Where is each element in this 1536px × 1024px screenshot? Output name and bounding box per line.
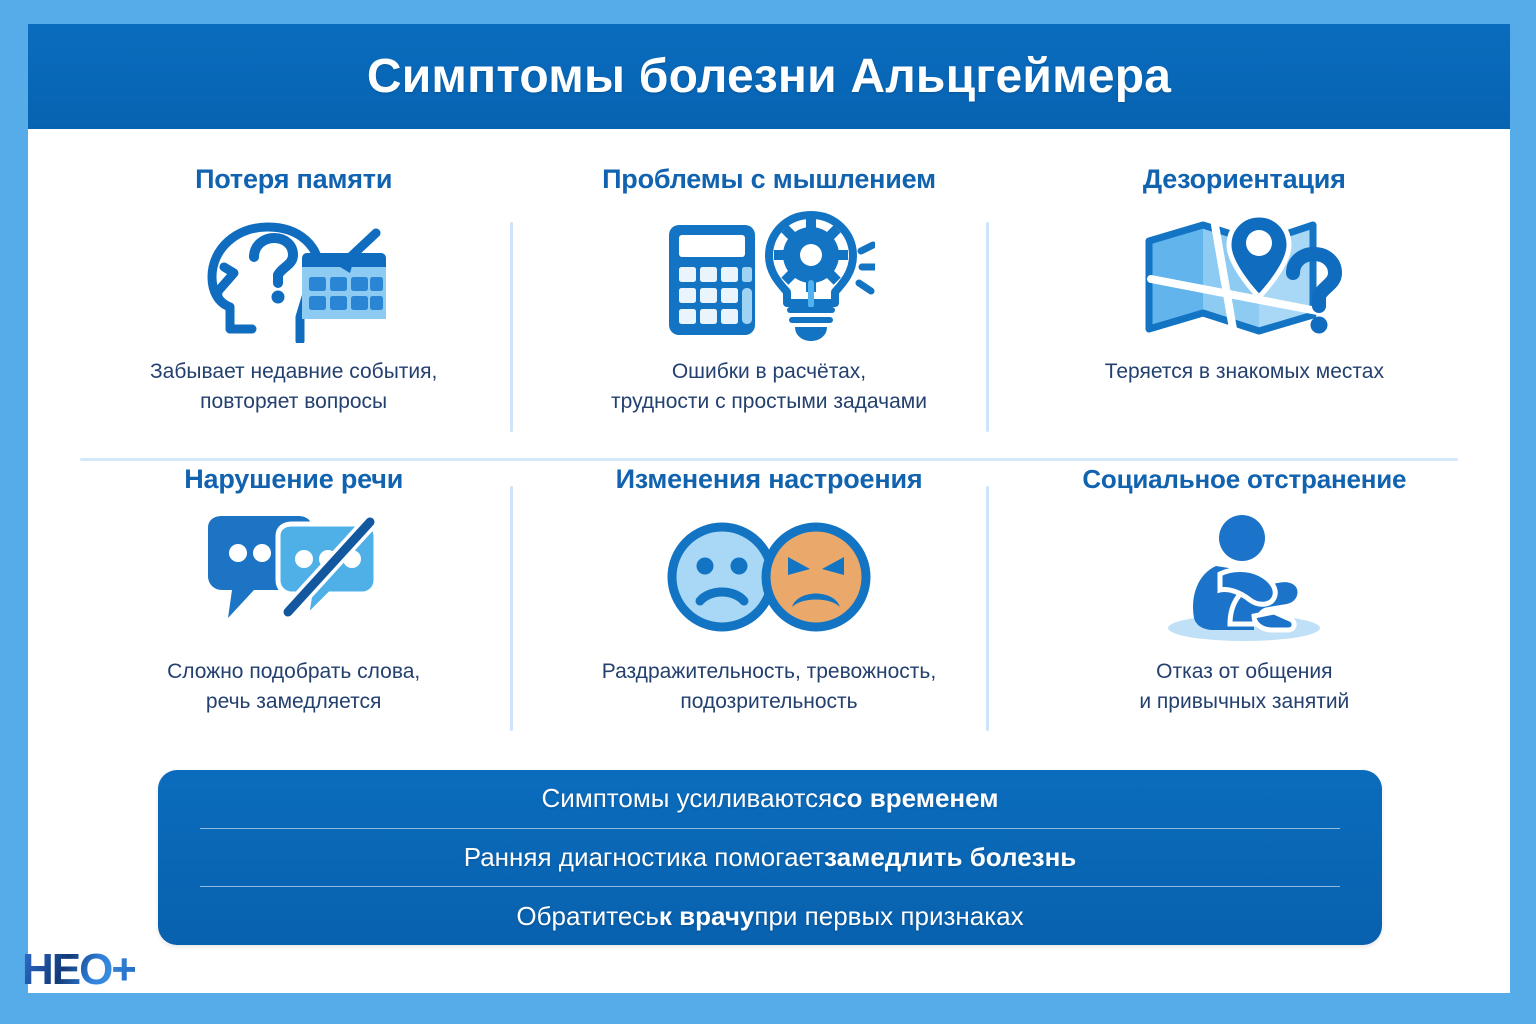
- sad-angry-faces-icon: [664, 507, 874, 647]
- banner-line-2-bold: замедлить болезнь: [824, 842, 1076, 873]
- symptom-card-mood-changes[interactable]: Изменения настроения Р: [531, 450, 1006, 750]
- banner-line-2: Ранняя диагностика помогает замедлить бо…: [158, 829, 1382, 887]
- symptom-title: Социальное отстранение: [1082, 464, 1406, 495]
- symptom-description: Отказ от общенияи привычных занятий: [1139, 657, 1349, 718]
- symptom-title: Изменения настроения: [616, 464, 923, 495]
- symptom-card-disorientation[interactable]: Дезориентация: [1007, 150, 1482, 450]
- symptom-title: Нарушение речи: [184, 464, 403, 495]
- symptom-description: Забывает недавние события,повторяет вопр…: [150, 357, 437, 418]
- header-bar: Симптомы болезни Альцгеймера: [28, 24, 1510, 129]
- symptom-description: Теряется в знакомых местах: [1105, 357, 1384, 387]
- symptom-title: Потеря памяти: [195, 164, 392, 195]
- symptom-row-1: Потеря памяти: [56, 150, 1482, 450]
- banner-line-3: Обратитесь к врачу при первых признаках: [158, 887, 1382, 945]
- symptom-card-memory-loss[interactable]: Потеря памяти: [56, 150, 531, 450]
- banner-line-3-plain-after: при первых признаках: [754, 901, 1023, 932]
- symptom-description: Ошибки в расчётах,трудности с простыми з…: [611, 357, 927, 418]
- symptom-description: Сложно подобрать слова,речь замедляется: [167, 657, 420, 718]
- symptom-card-thinking-problems[interactable]: Проблемы с мышлением: [531, 150, 1006, 450]
- symptom-title: Дезориентация: [1143, 164, 1346, 195]
- symptom-description: Раздражительность, тревожность,подозрите…: [602, 657, 936, 718]
- speech-bubbles-slash-icon: [194, 507, 394, 647]
- banner-line-3-plain-before: Обратитесь: [516, 901, 659, 932]
- symptom-title: Проблемы с мышлением: [602, 164, 936, 195]
- map-pin-question-icon: [1141, 207, 1347, 347]
- symptom-row-2: Нарушение речи: [56, 450, 1482, 750]
- symptom-card-social-withdrawal[interactable]: Социальное отстранение: [1007, 450, 1482, 750]
- page-title: Симптомы болезни Альцгеймера: [367, 49, 1171, 104]
- symptom-card-speech-impairment[interactable]: Нарушение речи: [56, 450, 531, 750]
- symptom-grid: Потеря памяти: [56, 150, 1482, 750]
- poster-root: Симптомы болезни Альцгеймера Потеря памя…: [0, 0, 1536, 1024]
- calculator-lightbulb-gear-icon: [663, 207, 875, 347]
- person-sitting-alone-icon: [1154, 507, 1334, 647]
- banner-line-1-bold: со временем: [832, 783, 998, 814]
- banner-line-3-bold: к врачу: [659, 901, 754, 932]
- brand-logo[interactable]: НЕО+: [22, 948, 135, 992]
- banner-line-1-plain-before: Симптомы усиливаются: [542, 783, 833, 814]
- brand-logo-text: НЕО: [22, 948, 111, 992]
- banner-line-1: Симптомы усиливаются со временем: [158, 770, 1382, 828]
- key-messages-banner: Симптомы усиливаются со временем Ранняя …: [158, 770, 1382, 945]
- banner-line-2-plain-before: Ранняя диагностика помогает: [464, 842, 824, 873]
- head-question-calendar-icon: [194, 207, 394, 347]
- brand-logo-plus: +: [111, 948, 135, 992]
